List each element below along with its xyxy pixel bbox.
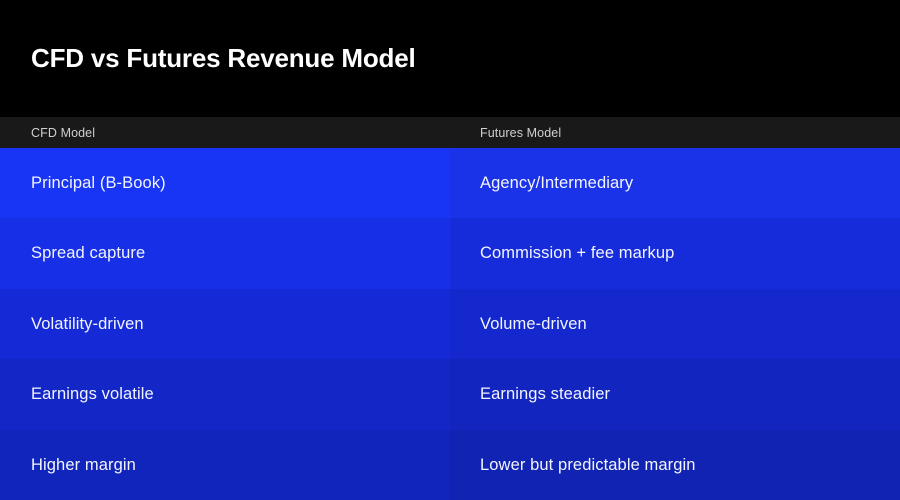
table-cell-futures: Earnings steadier [450,359,900,429]
column-header-cfd: CFD Model [0,117,450,148]
table-cell-futures: Agency/Intermediary [450,148,900,218]
table-cell-text: Commission + fee markup [480,243,674,264]
column-header-futures: Futures Model [450,117,900,148]
table-cell-cfd: Principal (B-Book) [0,148,450,218]
table-cell-cfd: Higher margin [0,430,450,500]
table-header-row: CFD Model Futures Model [0,117,900,148]
table-cell-text: Principal (B-Book) [31,173,166,194]
table-cell-text: Spread capture [31,243,145,264]
table-row: Volatility-driven Volume-driven [0,289,900,359]
slide-root: CFD vs Futures Revenue Model CFD Model F… [0,0,900,500]
table-cell-text: Lower but predictable margin [480,455,696,476]
table-cell-text: Earnings volatile [31,384,154,405]
table-cell-text: Agency/Intermediary [480,173,633,194]
comparison-table: CFD Model Futures Model Principal (B-Boo… [0,117,900,500]
table-cell-cfd: Earnings volatile [0,359,450,429]
table-cell-text: Volume-driven [480,314,587,335]
table-row: Spread capture Commission + fee markup [0,218,900,288]
page-title: CFD vs Futures Revenue Model [0,44,415,73]
table-cell-futures: Commission + fee markup [450,218,900,288]
table-cell-text: Higher margin [31,455,136,476]
table-cell-cfd: Spread capture [0,218,450,288]
table-cell-futures: Lower but predictable margin [450,430,900,500]
column-header-futures-label: Futures Model [480,126,561,140]
column-header-cfd-label: CFD Model [31,126,95,140]
table-cell-futures: Volume-driven [450,289,900,359]
table-cell-cfd: Volatility-driven [0,289,450,359]
table-row: Higher margin Lower but predictable marg… [0,430,900,500]
table-cell-text: Earnings steadier [480,384,610,405]
table-row: Principal (B-Book) Agency/Intermediary [0,148,900,218]
table-cell-text: Volatility-driven [31,314,144,335]
title-band: CFD vs Futures Revenue Model [0,0,900,117]
table-row: Earnings volatile Earnings steadier [0,359,900,429]
